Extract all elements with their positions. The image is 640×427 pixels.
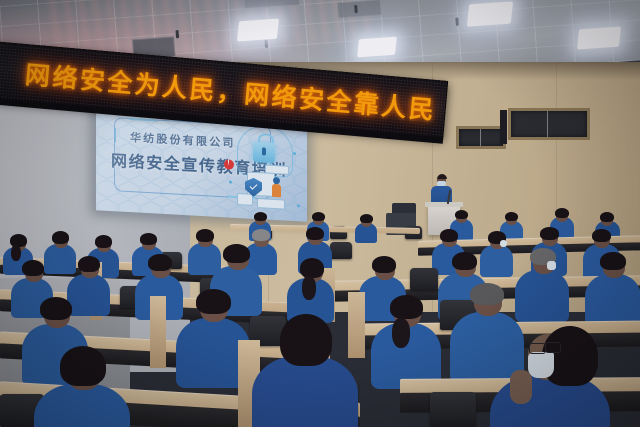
face-mask-icon xyxy=(528,352,554,378)
bar-icon xyxy=(257,198,285,210)
podium-top xyxy=(425,202,463,207)
ceiling-panel-light xyxy=(577,26,621,49)
file-icon xyxy=(237,193,253,206)
training-room-photo: 华纺股份有限公司 HUAFANG CO., LTD 华纺股份有限公司 网络安全宣… xyxy=(0,0,640,427)
face-mask-icon xyxy=(500,240,507,247)
sprinkler-head-icon xyxy=(354,5,358,13)
ceiling-vent-2 xyxy=(337,0,382,18)
sprinkler-head-icon xyxy=(176,30,180,38)
wall-window xyxy=(508,108,590,140)
alert-badge-icon xyxy=(224,159,234,170)
ceiling-panel-light xyxy=(237,19,279,42)
speaker-face-mask xyxy=(437,181,446,186)
speaker-hair xyxy=(437,174,447,179)
ceiling-panel-light xyxy=(357,37,397,58)
person-figure-icon xyxy=(272,177,281,197)
cybersecurity-illustration xyxy=(227,118,301,214)
eyeglasses-icon xyxy=(529,343,546,354)
window-frame-dark xyxy=(500,110,507,144)
padlock-keyhole-icon xyxy=(262,147,266,155)
sprinkler-head-icon xyxy=(264,40,268,48)
ceiling-panel-light xyxy=(467,1,513,26)
sprinkler-head-icon xyxy=(455,18,459,26)
eyeglasses-icon xyxy=(545,342,561,353)
wall-window xyxy=(456,126,506,149)
face-mask-icon xyxy=(547,261,556,270)
